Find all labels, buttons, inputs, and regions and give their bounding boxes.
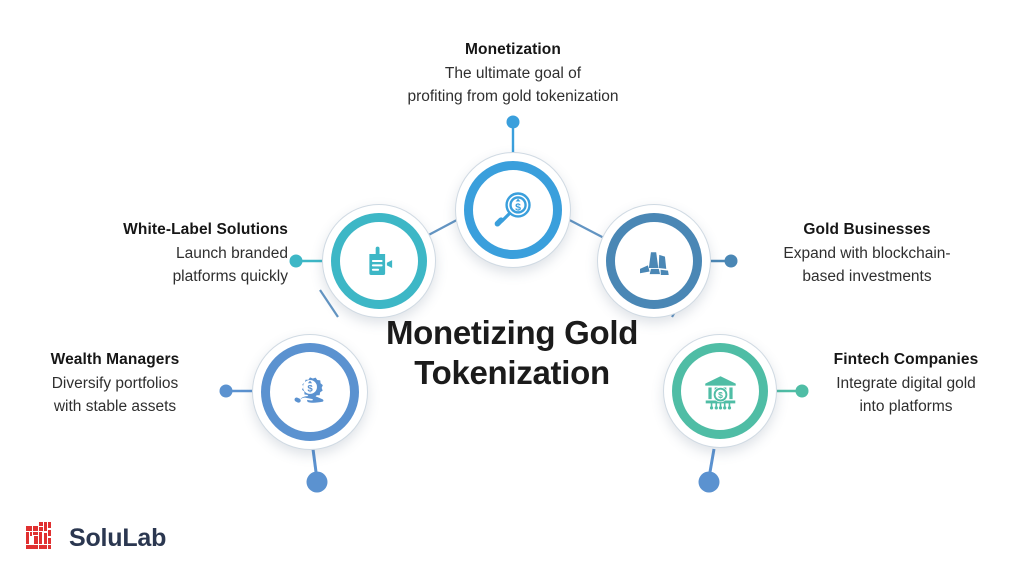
solulab-logo[interactable]: SoluLab: [26, 522, 166, 554]
infographic-canvas: $ Monetization The ultimate goal of prof…: [0, 0, 1024, 576]
label-gold-businesses: Gold Businesses Expand with blockchain- …: [738, 220, 996, 289]
node-inner-disc: [341, 223, 417, 299]
label-monetization: Monetization The ultimate goal of profit…: [363, 40, 663, 109]
page-title: Monetizing Gold Tokenization: [338, 313, 686, 394]
label-fintech-companies: Fintech Companies Integrate digital gold…: [800, 350, 1012, 419]
svg-text:$: $: [515, 201, 521, 213]
svg-text:$: $: [307, 383, 313, 394]
label-desc-line2: platforms quickly: [40, 266, 288, 289]
magnifier-dollar-coin-icon: $: [491, 188, 535, 232]
solulab-pixel-mark-icon: [26, 522, 60, 554]
svg-text:$: $: [718, 390, 723, 400]
label-desc-line1: Diversify portfolios: [10, 373, 220, 396]
label-desc-line1: Launch branded: [40, 243, 288, 266]
label-title: White-Label Solutions: [40, 220, 288, 239]
label-title: Monetization: [363, 40, 663, 59]
node-white-label-solutions[interactable]: [322, 204, 436, 318]
node-inner-disc: [616, 223, 692, 299]
label-desc-line2: based investments: [738, 266, 996, 289]
wealth-bottom-marker: [307, 449, 328, 493]
node-inner-disc: $: [682, 353, 758, 429]
label-desc-line2: profiting from gold tokenization: [363, 86, 663, 109]
label-wealth-managers: Wealth Managers Diversify portfolios wit…: [10, 350, 220, 419]
node-inner-disc: $: [474, 171, 552, 249]
label-title: Gold Businesses: [738, 220, 996, 239]
page-title-line2: Tokenization: [338, 353, 686, 393]
monetization-top-marker: [507, 116, 520, 153]
label-title: Fintech Companies: [800, 350, 1012, 369]
label-title: Wealth Managers: [10, 350, 220, 369]
label-desc-line1: Expand with blockchain-: [738, 243, 996, 266]
node-monetization[interactable]: $: [455, 152, 571, 268]
price-tag-label-icon: [358, 240, 400, 282]
node-gold-businesses[interactable]: [597, 204, 711, 318]
label-desc-line2: into platforms: [800, 396, 1012, 419]
gold-bars-icon: [633, 240, 675, 282]
solulab-logo-text: SoluLab: [69, 526, 166, 551]
digital-bank-dollar-icon: $: [699, 370, 742, 413]
label-desc-line1: Integrate digital gold: [800, 373, 1012, 396]
whitelabel-left-marker: [290, 255, 323, 268]
wealth-left-marker: [220, 385, 253, 398]
label-desc-line2: with stable assets: [10, 396, 220, 419]
label-desc-line1: The ultimate goal of: [363, 63, 663, 86]
fintech-bottom-marker: [699, 449, 720, 493]
page-title-line1: Monetizing Gold: [338, 313, 686, 353]
hand-holding-gear-money-icon: $: [288, 370, 332, 414]
label-white-label-solutions: White-Label Solutions Launch branded pla…: [40, 220, 288, 289]
